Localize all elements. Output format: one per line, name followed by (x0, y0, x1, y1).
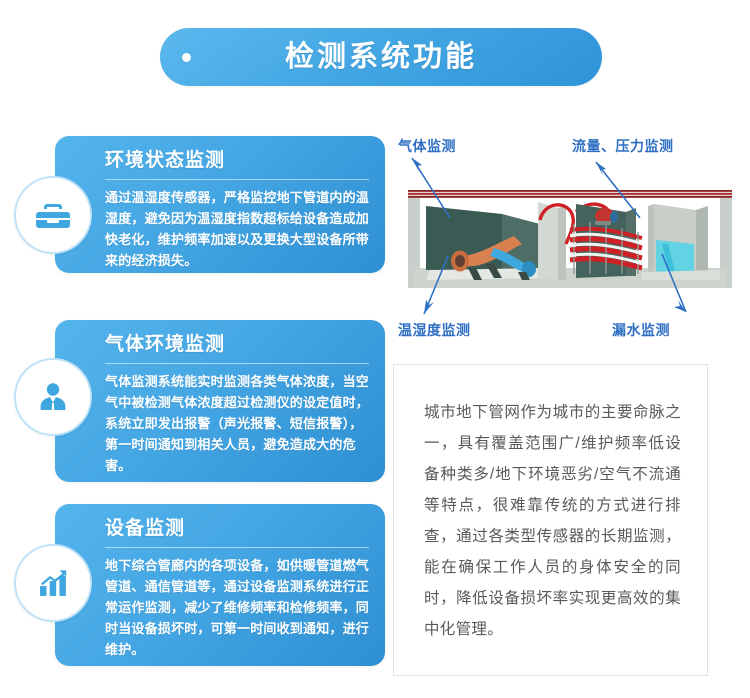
diagram-label-gas: 气体监测 (398, 136, 456, 156)
feature-card-list: 环境状态监测 通过温湿度传感器，严格监控地下管道内的温湿度，避免因为温湿度指数超… (0, 0, 390, 698)
worker-person-icon (31, 375, 75, 419)
feature-icon-badge-gas (14, 358, 92, 436)
right-column: 气体监测 流量、压力监测 温湿度监测 漏水监测 城市地下管网作为城市的主要命脉之… (390, 0, 750, 698)
feature-icon-badge-environment (14, 176, 92, 254)
title-divider (105, 179, 369, 180)
toolbox-icon (31, 193, 75, 237)
feature-card-title: 设备监测 (105, 518, 369, 540)
pipe-gallery-diagram: 气体监测 流量、压力监测 温湿度监测 漏水监测 (390, 128, 750, 358)
feature-card-body: 地下综合管廊内的各项设备，如供暖管道燃气管道、通信管道等，通过设备监测系统进行正… (105, 555, 369, 660)
diagram-label-flow-pressure: 流量、压力监测 (572, 136, 674, 156)
bar-chart-growth-icon (31, 561, 75, 605)
feature-card-environment[interactable]: 环境状态监测 通过温湿度传感器，严格监控地下管道内的温湿度，避免因为温湿度指数超… (55, 136, 385, 273)
title-divider (105, 363, 369, 364)
description-text: 城市地下管网作为城市的主要命脉之一，具有覆盖范围广/维护频率低设备种类多/地下环… (424, 397, 681, 645)
feature-card-body: 气体监测系统能实时监测各类气体浓度，当空气中被检测气体浓度超过检测仪的设定值时，… (105, 371, 369, 476)
feature-card-gas[interactable]: 气体环境监测 气体监测系统能实时监测各类气体浓度，当空气中被检测气体浓度超过检测… (55, 320, 385, 482)
diagram-label-leak: 漏水监测 (612, 320, 670, 340)
feature-card-title: 环境状态监测 (105, 150, 369, 172)
feature-card-equipment[interactable]: 设备监测 地下综合管廊内的各项设备，如供暖管道燃气管道、通信管道等，通过设备监测… (55, 504, 385, 666)
diagram-label-temp-humidity: 温湿度监测 (398, 320, 471, 340)
title-divider (105, 547, 369, 548)
feature-icon-badge-equipment (14, 544, 92, 622)
feature-card-title: 气体环境监测 (105, 334, 369, 356)
description-panel: 城市地下管网作为城市的主要命脉之一，具有覆盖范围广/维护频率低设备种类多/地下环… (393, 364, 708, 676)
page-root: 检测系统功能 环境状态监测 通过温湿度传感器，严格监控地下管道内的温湿度，避免因… (0, 0, 750, 698)
feature-card-body: 通过温湿度传感器，严格监控地下管道内的温湿度，避免因为温湿度指数超标给设备造成加… (105, 187, 369, 271)
